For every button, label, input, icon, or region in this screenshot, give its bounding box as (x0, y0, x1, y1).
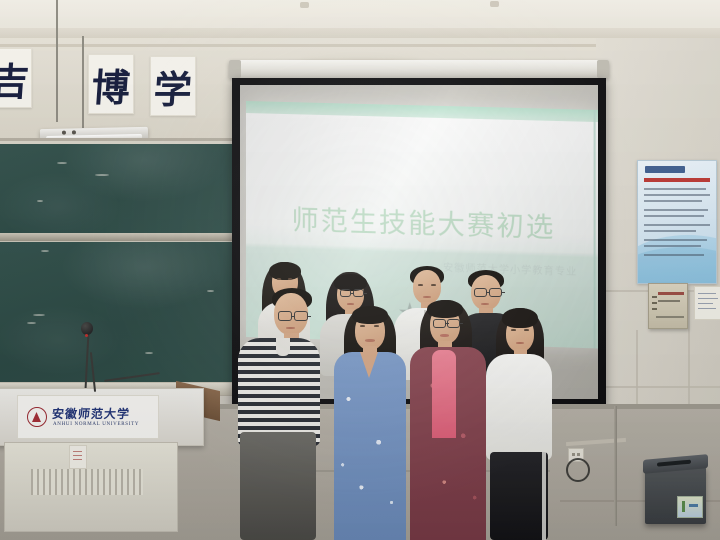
calligraphy-char: 博 (90, 57, 132, 112)
trash-bin-slot (657, 460, 691, 467)
control-panel-title (658, 292, 684, 295)
podium-nameplate: 安徽师范大学 ANHUI NORMAL UNIVERSITY (17, 395, 159, 439)
calligraphy-sheet-2: 博 (88, 54, 134, 114)
ceiling-fixture-icon (300, 2, 309, 8)
blackboard-panel-bottom (0, 242, 243, 382)
blackboard-divider (0, 233, 243, 241)
podium-vent (31, 469, 143, 495)
poster-logo (645, 166, 685, 173)
lamp-hanger-rod (56, 0, 58, 122)
pink-top (432, 350, 456, 438)
wall-tile-line (636, 330, 638, 408)
slide-title: 师范生技能大赛初选 (246, 197, 598, 246)
black-pants (490, 452, 548, 540)
podium: 安徽师范大学 ANHUI NORMAL UNIVERSITY (0, 388, 204, 446)
recycling-sticker-icon (677, 496, 703, 518)
podium-tag (69, 445, 87, 469)
calligraphy-sheet-3: 学 (150, 56, 196, 116)
trash-bin (645, 466, 706, 524)
microphone-led (85, 334, 88, 337)
projector-screen-housing[interactable] (229, 60, 609, 78)
wall-tile-line (596, 386, 720, 388)
podium-university-name-cn: 安徽师范大学 (51, 405, 131, 422)
university-logo-icon (27, 407, 47, 427)
cable-loop (566, 458, 590, 482)
lamp-hanger-rod (82, 36, 84, 128)
slide-top-band (246, 101, 598, 122)
white-tshirt (486, 354, 552, 460)
control-panel-subtitle (658, 300, 680, 302)
calligraphy-sheet-1: 吉 (0, 48, 32, 108)
notice-poster (637, 160, 717, 284)
poster-title (644, 178, 710, 182)
wall-tile-line (688, 290, 690, 410)
microphone-icon (81, 322, 93, 335)
metal-pole (614, 406, 617, 526)
control-panel-footer (656, 316, 684, 318)
classroom-group-photo: 吉 博 学 (0, 0, 720, 540)
calligraphy-char: 学 (152, 59, 194, 114)
ceiling-fixture-icon (490, 1, 499, 7)
podium-body (4, 442, 178, 532)
calligraphy-char: 吉 (0, 51, 31, 106)
floral-dress (334, 352, 406, 540)
wall-paper-notice (694, 286, 720, 320)
podium-university-name-en: ANHUI NORMAL UNIVERSITY (53, 422, 139, 427)
blackboard (0, 138, 246, 396)
slide-subtitle: 安徽师范大学小学教育专业 (443, 259, 577, 278)
wall-control-panel[interactable] (648, 283, 688, 329)
blackboard-panel-top (0, 144, 243, 234)
